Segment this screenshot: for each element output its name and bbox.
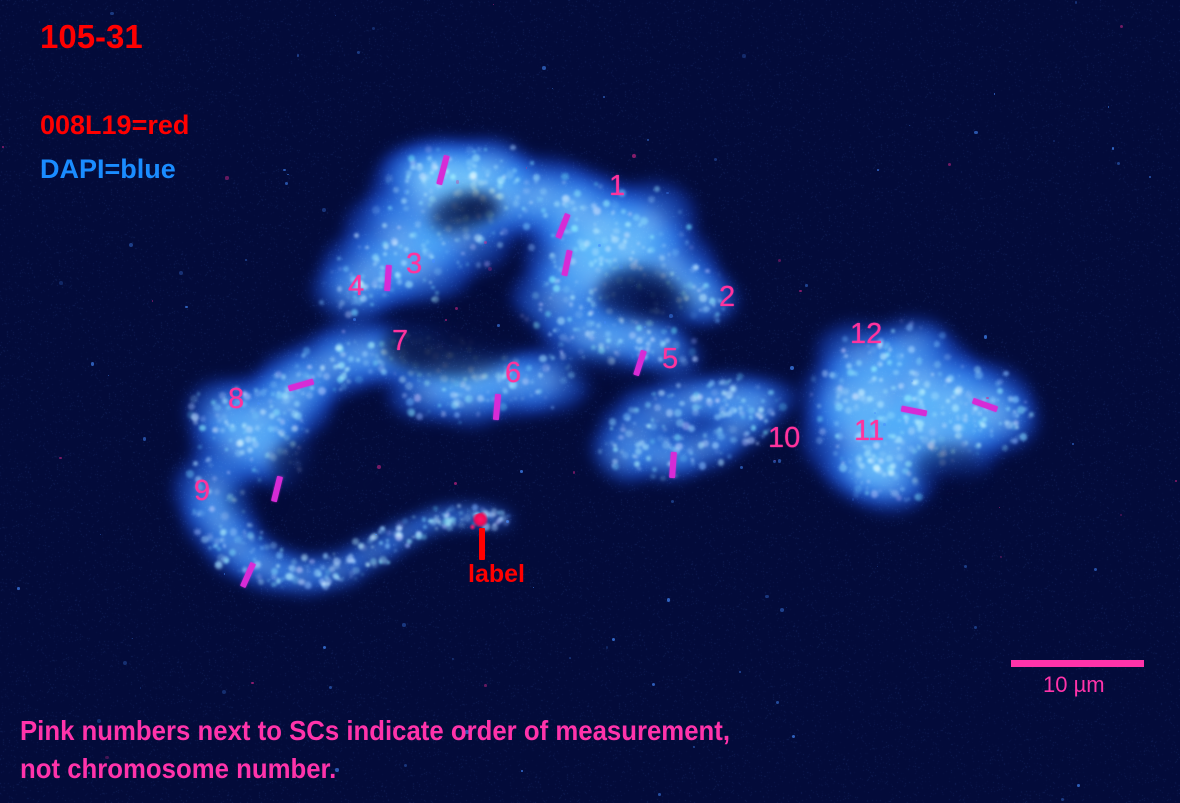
measurement-number-10: 10 bbox=[768, 424, 800, 453]
micrograph-canvas: label 123456789101112 105-31 008L19=red … bbox=[0, 0, 1180, 803]
measurement-number-7: 7 bbox=[392, 327, 408, 356]
measurement-number-8: 8 bbox=[228, 385, 244, 414]
scale-bar-label: 10 µm bbox=[1043, 674, 1105, 696]
legend-probe: 008L19=red bbox=[40, 112, 189, 139]
label-annotation-text: label bbox=[468, 562, 525, 587]
label-pointer-bar bbox=[479, 528, 485, 560]
measurement-number-5: 5 bbox=[662, 345, 678, 374]
measurement-number-6: 6 bbox=[505, 359, 521, 388]
figure-caption: Pink numbers next to SCs indicate order … bbox=[20, 712, 730, 788]
specimen-title: 105-31 bbox=[40, 20, 143, 53]
caption-line-2: not chromosome number. bbox=[20, 750, 730, 788]
measurement-number-3: 3 bbox=[406, 250, 422, 279]
caption-line-1: Pink numbers next to SCs indicate order … bbox=[20, 712, 730, 750]
measurement-number-2: 2 bbox=[719, 283, 735, 312]
measurement-number-4: 4 bbox=[348, 272, 364, 301]
measurement-number-12: 12 bbox=[850, 320, 882, 349]
measurement-number-11: 11 bbox=[854, 417, 884, 446]
measurement-number-1: 1 bbox=[609, 172, 625, 201]
fish-signal-spot-secondary bbox=[469, 524, 476, 530]
measurement-number-9: 9 bbox=[194, 477, 210, 506]
legend-counterstain: DAPI=blue bbox=[40, 156, 176, 183]
scale-bar bbox=[1011, 660, 1144, 667]
